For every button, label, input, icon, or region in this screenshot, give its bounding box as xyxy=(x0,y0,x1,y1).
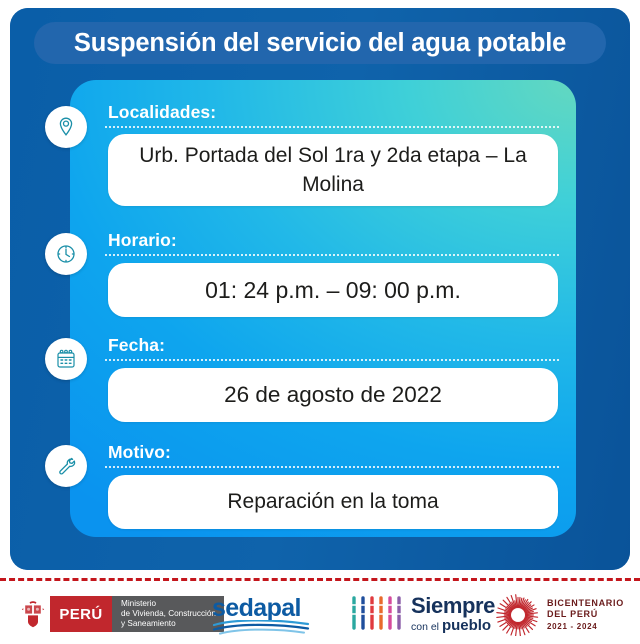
field-value-horario: 01: 24 p.m. – 09: 00 p.m. xyxy=(108,263,558,317)
sedapal-waves-icon xyxy=(212,620,312,636)
field-value-fecha: 26 de agosto de 2022 xyxy=(108,368,558,422)
title-pill: Suspensión del servicio del agua potable xyxy=(34,22,606,64)
dotted-divider xyxy=(105,359,559,361)
page-title: Suspensión del servicio del agua potable xyxy=(74,29,566,58)
location-pin-icon xyxy=(45,106,87,148)
logo-siempre-con-el-pueblo: Siempre con el pueblo xyxy=(348,594,495,634)
bicentenario-line-2: DEL PERÚ xyxy=(547,609,624,620)
logo-bicentenario: BICENTENARIO DEL PERÚ 2021 - 2024 xyxy=(496,594,624,636)
red-dashed-divider xyxy=(0,578,640,581)
field-label-fecha: Fecha: xyxy=(108,335,165,356)
siempre-line-2-bold: pueblo xyxy=(442,617,491,634)
ministry-line-1: Ministerio xyxy=(121,599,216,609)
logo-sedapal: sedapal xyxy=(212,596,312,636)
ministry-line-3: y Saneamiento xyxy=(121,619,216,629)
clock-icon xyxy=(45,233,87,275)
peru-coat-of-arms-icon xyxy=(16,596,50,632)
peru-country-label: PERÚ xyxy=(50,596,112,632)
siempre-line-2: con el pueblo xyxy=(411,618,495,633)
sedapal-wordmark: sedapal xyxy=(212,596,312,620)
siempre-line-1: Siempre xyxy=(411,595,495,617)
siempre-pins-icon xyxy=(348,594,406,634)
field-value-localidades: Urb. Portada del Sol 1ra y 2da etapa – L… xyxy=(108,134,558,206)
bicentenario-sunburst-icon xyxy=(496,594,540,636)
siempre-wordmark: Siempre con el pueblo xyxy=(411,595,495,633)
footer-logos: PERÚ Ministerio de Vivienda, Construcció… xyxy=(0,588,640,644)
bicentenario-line-1: BICENTENARIO xyxy=(547,598,624,609)
field-label-motivo: Motivo: xyxy=(108,442,171,463)
calendar-icon xyxy=(45,338,87,380)
ministry-name: Ministerio de Vivienda, Construcción y S… xyxy=(112,596,224,632)
field-label-horario: Horario: xyxy=(108,230,177,251)
field-label-localidades: Localidades: xyxy=(108,102,216,123)
bicentenario-line-3: 2021 - 2024 xyxy=(547,621,624,632)
field-value-motivo: Reparación en la toma xyxy=(108,475,558,529)
dotted-divider xyxy=(105,126,559,128)
suspension-notice-poster: Suspensión del servicio del agua potable… xyxy=(0,0,640,644)
ministry-line-2: de Vivienda, Construcción xyxy=(121,609,216,619)
dotted-divider xyxy=(105,466,559,468)
siempre-line-2-small: con el xyxy=(411,621,442,633)
wrench-icon xyxy=(45,445,87,487)
bicentenario-wordmark: BICENTENARIO DEL PERÚ 2021 - 2024 xyxy=(547,598,624,632)
dotted-divider xyxy=(105,254,559,256)
logo-ministerio-vivienda: PERÚ Ministerio de Vivienda, Construcció… xyxy=(16,596,224,632)
